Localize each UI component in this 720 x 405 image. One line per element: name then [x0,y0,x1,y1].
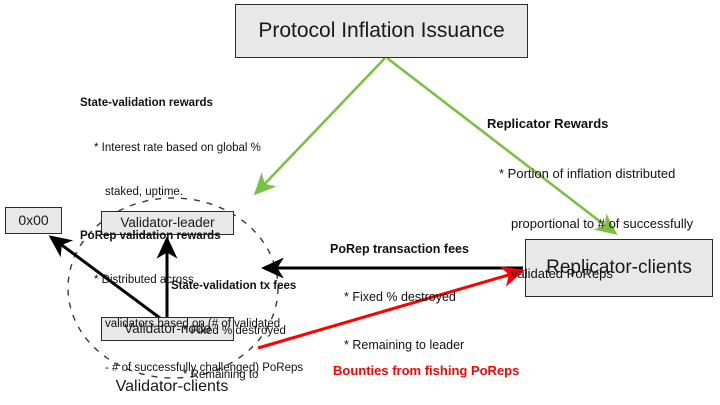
state-validation-rewards-line-2: staked, uptime. [80,185,303,200]
replicator-rewards-line-3: validated PoReps [487,266,693,283]
state-validation-rewards-heading: State-validation rewards [80,96,303,111]
label-validator-clients: Validator-clients [92,378,252,396]
node-burn-address[interactable]: 0x00 [5,207,62,234]
porep-transaction-fees-line-1: * Fixed % destroyed [330,289,469,305]
porep-transaction-fees-heading: PoRep transaction fees [330,241,469,257]
annotation-bounties: Bounties from fishing PoReps * % of slas… [333,330,538,405]
replicator-rewards-heading: Replicator Rewards [487,116,693,133]
replicator-rewards-line-1: * Portion of inflation distributed [487,166,693,183]
state-validation-rewards-line-1: * Interest rate based on global % [80,141,303,156]
state-validation-tx-fees-heading: State-validation tx fees [171,279,296,294]
state-validation-tx-fees-line-1: * Fixed % destroyed [171,324,296,339]
replicator-rewards-line-2: proportional to # of successfully [487,216,693,233]
porep-validation-rewards-heading: PoRep validation rewards [80,229,303,244]
diagram-canvas: Protocol Inflation Issuance Replicator-c… [0,0,720,405]
bounties-heading: Bounties from fishing PoReps [333,363,538,380]
annotation-replicator-rewards: Replicator Rewards * Portion of inflatio… [487,83,693,316]
node-protocol-inflation-issuance[interactable]: Protocol Inflation Issuance [235,4,528,58]
